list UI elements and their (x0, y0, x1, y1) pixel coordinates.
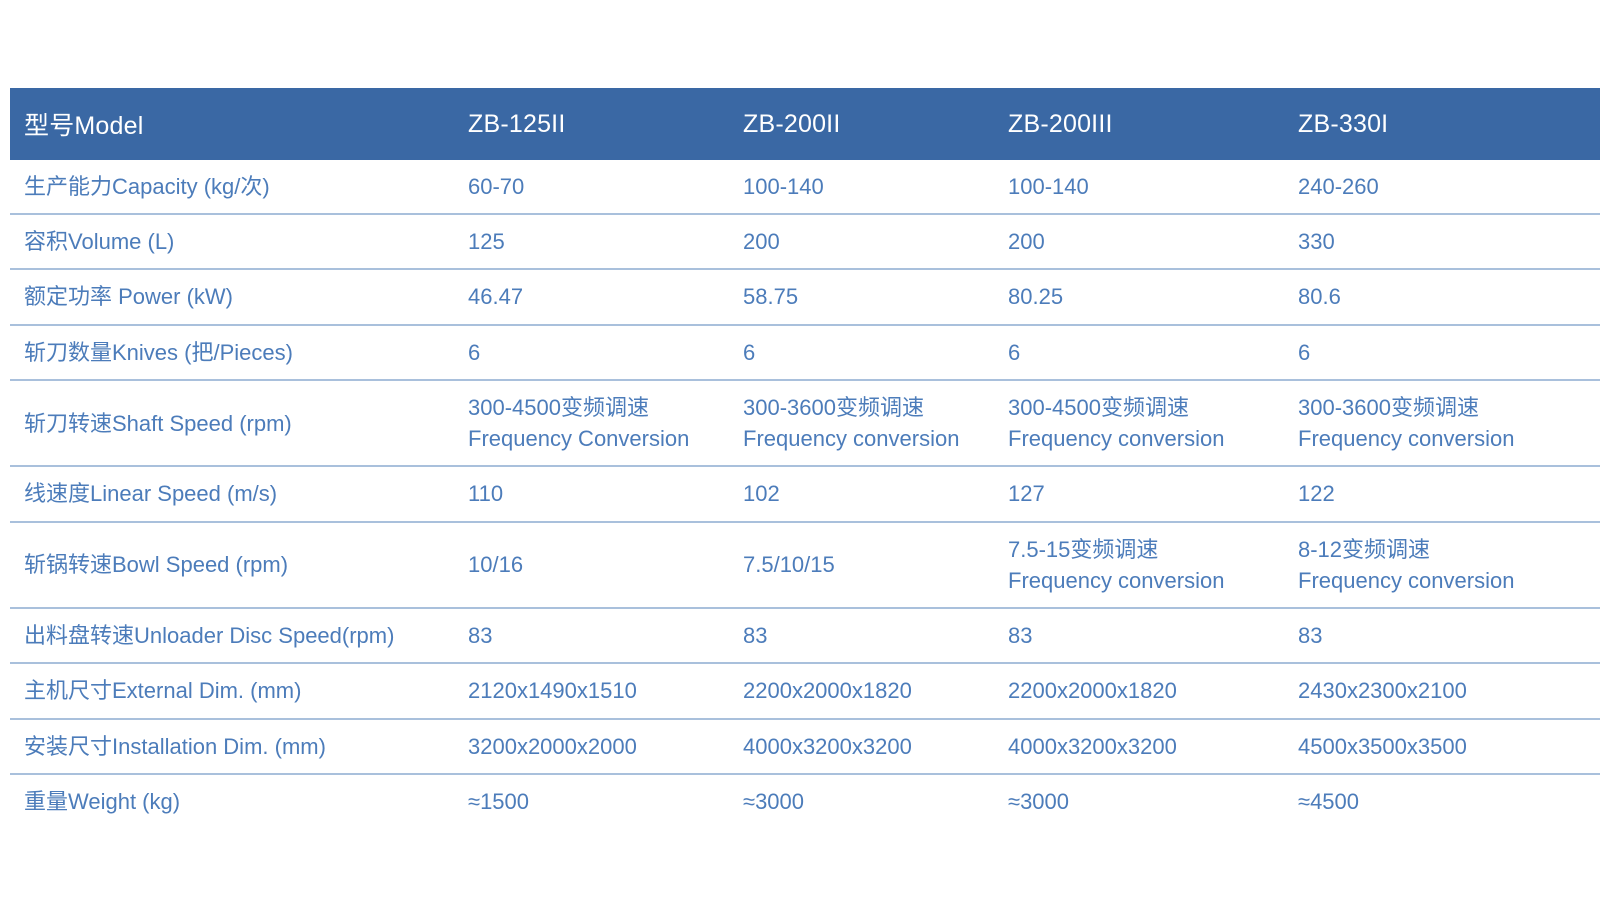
row-label-installation-dim: 安装尺寸Installation Dim. (mm) (10, 719, 450, 774)
cell-line-secondary: Frequency conversion (1298, 423, 1600, 454)
cell-installation-dim-model-1: 3200x2000x2000 (450, 719, 725, 774)
row-label-capacity: 生产能力Capacity (kg/次) (10, 160, 450, 214)
cell-external-dim-model-2: 2200x2000x1820 (725, 663, 990, 718)
cell-line-primary: 8-12变频调速 (1298, 534, 1600, 565)
cell-line-secondary: Frequency conversion (1008, 565, 1280, 596)
cell-linear-speed-model-2: 102 (725, 466, 990, 521)
cell-knives-model-4: 6 (1280, 325, 1600, 380)
cell-weight-model-2: ≈3000 (725, 774, 990, 828)
cell-line-primary: 300-3600变频调速 (1298, 392, 1600, 423)
cell-unloader-disc-speed-model-3: 83 (990, 608, 1280, 663)
cell-line-primary: 7.5-15变频调速 (1008, 534, 1280, 565)
cell-linear-speed-model-4: 122 (1280, 466, 1600, 521)
table-row-shaft-speed: 斩刀转速Shaft Speed (rpm) 300-4500变频调速 Frequ… (10, 380, 1600, 466)
cell-installation-dim-model-3: 4000x3200x3200 (990, 719, 1280, 774)
cell-unloader-disc-speed-model-4: 83 (1280, 608, 1600, 663)
column-header-model-1: ZB-125II (450, 88, 725, 160)
cell-bowl-speed-model-4: 8-12变频调速 Frequency conversion (1280, 522, 1600, 608)
cell-power-model-3: 80.25 (990, 269, 1280, 324)
cell-linear-speed-model-1: 110 (450, 466, 725, 521)
row-label-external-dim: 主机尺寸External Dim. (mm) (10, 663, 450, 718)
column-header-model-label: 型号Model (10, 88, 450, 160)
table-row-power: 额定功率 Power (kW) 46.47 58.75 80.25 80.6 (10, 269, 1600, 324)
cell-capacity-model-3: 100-140 (990, 160, 1280, 214)
cell-capacity-model-2: 100-140 (725, 160, 990, 214)
cell-bowl-speed-model-3: 7.5-15变频调速 Frequency conversion (990, 522, 1280, 608)
cell-knives-model-1: 6 (450, 325, 725, 380)
cell-line-primary: 300-4500变频调速 (1008, 392, 1280, 423)
cell-line-primary: 10/16 (468, 549, 725, 580)
cell-external-dim-model-3: 2200x2000x1820 (990, 663, 1280, 718)
cell-knives-model-3: 6 (990, 325, 1280, 380)
cell-line-primary: 300-3600变频调速 (743, 392, 990, 423)
cell-capacity-model-1: 60-70 (450, 160, 725, 214)
cell-external-dim-model-1: 2120x1490x1510 (450, 663, 725, 718)
table-row-bowl-speed: 斩锅转速Bowl Speed (rpm) 10/16 7.5/10/15 7.5… (10, 522, 1600, 608)
cell-shaft-speed-model-4: 300-3600变频调速 Frequency conversion (1280, 380, 1600, 466)
table-body: 生产能力Capacity (kg/次) 60-70 100-140 100-14… (10, 160, 1600, 828)
cell-line-secondary: Frequency conversion (743, 423, 990, 454)
cell-line-primary: 300-4500变频调速 (468, 392, 725, 423)
cell-weight-model-4: ≈4500 (1280, 774, 1600, 828)
cell-linear-speed-model-3: 127 (990, 466, 1280, 521)
cell-power-model-4: 80.6 (1280, 269, 1600, 324)
table-row-unloader-disc-speed: 出料盘转速Unloader Disc Speed(rpm) 83 83 83 8… (10, 608, 1600, 663)
cell-shaft-speed-model-2: 300-3600变频调速 Frequency conversion (725, 380, 990, 466)
column-header-model-2: ZB-200II (725, 88, 990, 160)
table-row-linear-speed: 线速度Linear Speed (m/s) 110 102 127 122 (10, 466, 1600, 521)
cell-bowl-speed-model-1: 10/16 (450, 522, 725, 608)
cell-line-secondary: Frequency conversion (1298, 565, 1600, 596)
cell-external-dim-model-4: 2430x2300x2100 (1280, 663, 1600, 718)
cell-unloader-disc-speed-model-1: 83 (450, 608, 725, 663)
row-label-volume: 容积Volume (L) (10, 214, 450, 269)
table-row-installation-dim: 安装尺寸Installation Dim. (mm) 3200x2000x200… (10, 719, 1600, 774)
table-row-external-dim: 主机尺寸External Dim. (mm) 2120x1490x1510 22… (10, 663, 1600, 718)
table-row-capacity: 生产能力Capacity (kg/次) 60-70 100-140 100-14… (10, 160, 1600, 214)
row-label-power: 额定功率 Power (kW) (10, 269, 450, 324)
cell-volume-model-2: 200 (725, 214, 990, 269)
row-label-knives: 斩刀数量Knives (把/Pieces) (10, 325, 450, 380)
cell-line-secondary: Frequency Conversion (468, 423, 725, 454)
row-label-linear-speed: 线速度Linear Speed (m/s) (10, 466, 450, 521)
cell-line-secondary: Frequency conversion (1008, 423, 1280, 454)
table-row-knives: 斩刀数量Knives (把/Pieces) 6 6 6 6 (10, 325, 1600, 380)
cell-unloader-disc-speed-model-2: 83 (725, 608, 990, 663)
cell-knives-model-2: 6 (725, 325, 990, 380)
cell-volume-model-3: 200 (990, 214, 1280, 269)
table-row-volume: 容积Volume (L) 125 200 200 330 (10, 214, 1600, 269)
cell-installation-dim-model-2: 4000x3200x3200 (725, 719, 990, 774)
cell-capacity-model-4: 240-260 (1280, 160, 1600, 214)
table-header-row: 型号Model ZB-125II ZB-200II ZB-200III ZB-3… (10, 88, 1600, 160)
column-header-model-3: ZB-200III (990, 88, 1280, 160)
row-label-weight: 重量Weight (kg) (10, 774, 450, 828)
table-header: 型号Model ZB-125II ZB-200II ZB-200III ZB-3… (10, 88, 1600, 160)
cell-power-model-2: 58.75 (725, 269, 990, 324)
specification-page: 型号Model ZB-125II ZB-200II ZB-200III ZB-3… (0, 0, 1600, 900)
cell-weight-model-1: ≈1500 (450, 774, 725, 828)
cell-weight-model-3: ≈3000 (990, 774, 1280, 828)
row-label-bowl-speed: 斩锅转速Bowl Speed (rpm) (10, 522, 450, 608)
cell-bowl-speed-model-2: 7.5/10/15 (725, 522, 990, 608)
specification-table: 型号Model ZB-125II ZB-200II ZB-200III ZB-3… (10, 88, 1600, 828)
cell-volume-model-4: 330 (1280, 214, 1600, 269)
column-header-model-4: ZB-330I (1280, 88, 1600, 160)
row-label-unloader-disc-speed: 出料盘转速Unloader Disc Speed(rpm) (10, 608, 450, 663)
cell-shaft-speed-model-1: 300-4500变频调速 Frequency Conversion (450, 380, 725, 466)
table-row-weight: 重量Weight (kg) ≈1500 ≈3000 ≈3000 ≈4500 (10, 774, 1600, 828)
cell-volume-model-1: 125 (450, 214, 725, 269)
row-label-shaft-speed: 斩刀转速Shaft Speed (rpm) (10, 380, 450, 466)
cell-shaft-speed-model-3: 300-4500变频调速 Frequency conversion (990, 380, 1280, 466)
cell-installation-dim-model-4: 4500x3500x3500 (1280, 719, 1600, 774)
cell-line-primary: 7.5/10/15 (743, 549, 990, 580)
cell-power-model-1: 46.47 (450, 269, 725, 324)
